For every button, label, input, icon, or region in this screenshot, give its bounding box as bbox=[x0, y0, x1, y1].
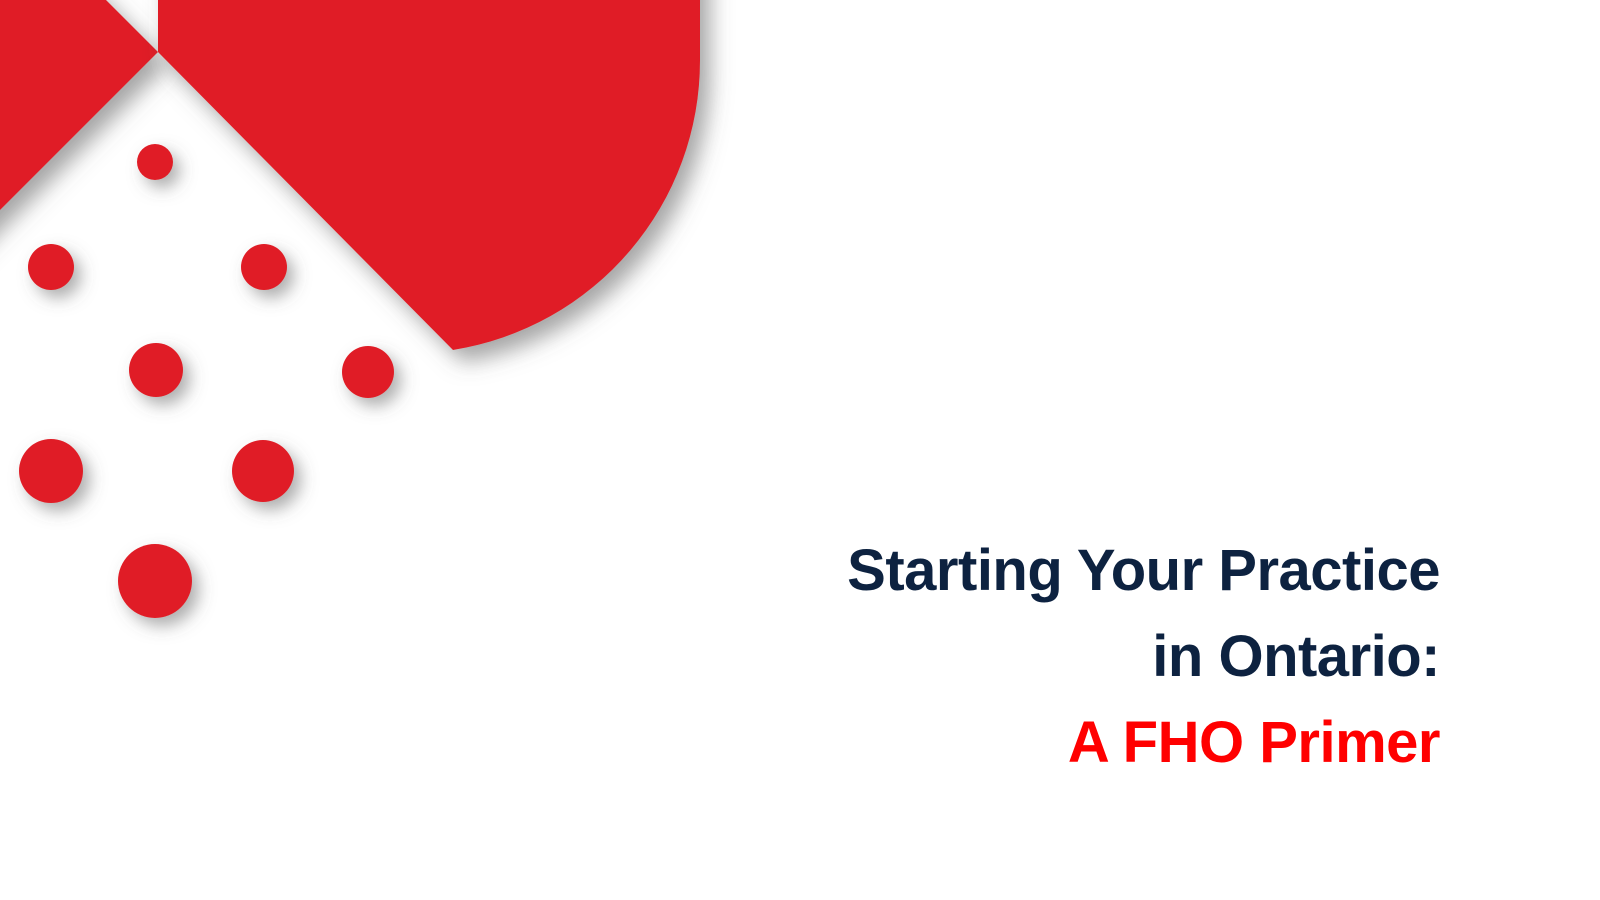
dot-7 bbox=[232, 440, 294, 502]
red-corner-triangle bbox=[0, 0, 158, 470]
dot-1 bbox=[137, 144, 173, 180]
presentation-slide: Starting Your Practice in Ontario: A FHO… bbox=[0, 0, 1600, 900]
dot-5 bbox=[342, 346, 394, 398]
dot-3 bbox=[241, 244, 287, 290]
title-line-2: in Ontario: bbox=[680, 614, 1440, 700]
dot-4 bbox=[129, 343, 183, 397]
dot-8 bbox=[118, 544, 192, 618]
dot-6 bbox=[19, 439, 83, 503]
red-leaf-and-dots-decoration bbox=[0, 0, 700, 700]
red-leaf-shape bbox=[158, 0, 700, 350]
dot-2 bbox=[28, 244, 74, 290]
title-line-1: Starting Your Practice bbox=[680, 528, 1440, 614]
slide-title-block: Starting Your Practice in Ontario: A FHO… bbox=[680, 528, 1440, 786]
red-dot-cluster bbox=[19, 144, 394, 618]
title-line-3-subtitle: A FHO Primer bbox=[680, 700, 1440, 786]
